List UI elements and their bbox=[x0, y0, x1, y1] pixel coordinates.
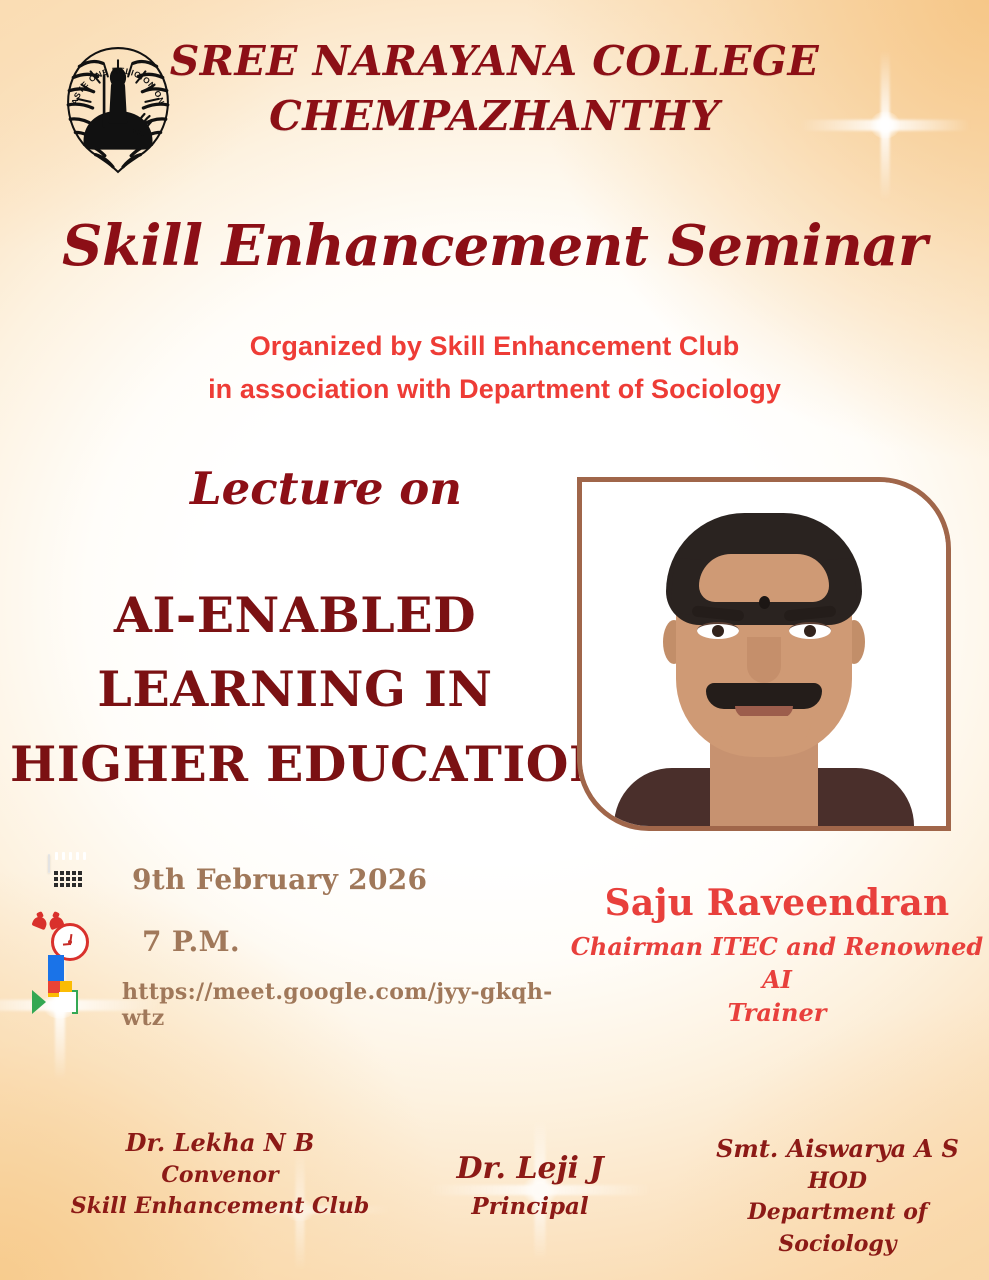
event-link-row[interactable]: https://meet.google.com/jyy-gkqh-wtz bbox=[48, 979, 588, 1031]
speaker-role: Chairman ITEC and Renowned AI Trainer bbox=[565, 930, 989, 1029]
speaker-name: Saju Raveendran bbox=[565, 885, 989, 921]
event-date-row: 9th February 2026 bbox=[48, 855, 588, 903]
lecture-topic-line1: AI-ENABLED bbox=[10, 578, 580, 652]
event-date-text: 9th February 2026 bbox=[132, 863, 427, 896]
college-name-line1: SREE NARAYANA COLLEGE bbox=[115, 34, 875, 89]
signatory-principal: Dr. Leji J Principal bbox=[390, 1148, 670, 1223]
organizer-line2: in association with Department of Sociol… bbox=[0, 368, 989, 411]
lecture-topic-line2: LEARNING IN bbox=[10, 652, 580, 726]
event-meet-link[interactable]: https://meet.google.com/jyy-gkqh-wtz bbox=[122, 979, 588, 1031]
event-details: 9th February 2026 7 P.M. bbox=[48, 855, 588, 1045]
college-name-line2: CHEMPAZHANTHY bbox=[115, 89, 875, 144]
signatory-convenor-role: Convenor bbox=[60, 1160, 380, 1191]
signatory-convenor: Dr. Lekha N B Convenor Skill Enhancement… bbox=[60, 1126, 380, 1223]
speaker-photo-frame bbox=[577, 477, 951, 831]
lecture-topic: AI-ENABLED LEARNING IN HIGHER EDUCATION bbox=[10, 578, 580, 801]
lecture-on-label: Lecture on bbox=[96, 466, 556, 511]
signatory-convenor-name: Dr. Lekha N B bbox=[60, 1126, 380, 1160]
college-name: SREE NARAYANA COLLEGE CHEMPAZHANTHY bbox=[115, 34, 875, 143]
signatory-convenor-unit: Skill Enhancement Club bbox=[60, 1191, 380, 1222]
organizer-block: Organized by Skill Enhancement Club in a… bbox=[0, 325, 989, 411]
calendar-icon bbox=[48, 855, 96, 903]
signatory-principal-name: Dr. Leji J bbox=[390, 1148, 670, 1191]
speaker-role-line1: Chairman ITEC and Renowned AI bbox=[571, 932, 983, 994]
poster-header: ONE CASTE ONE RELIGION ONE GOD SREE NARA… bbox=[0, 34, 989, 143]
speaker-role-line2: Trainer bbox=[728, 998, 827, 1027]
speaker-photo bbox=[582, 482, 946, 826]
event-time-row: 7 P.M. bbox=[48, 917, 588, 965]
organizer-line1: Organized by Skill Enhancement Club bbox=[0, 325, 989, 368]
seminar-title: Skill Enhancement Seminar bbox=[0, 218, 989, 274]
signatory-hod: Smt. Aiswarya A S HOD Department of Soci… bbox=[690, 1132, 985, 1260]
seminar-poster: ONE CASTE ONE RELIGION ONE GOD SREE NARA… bbox=[0, 0, 989, 1280]
signatory-row: Dr. Lekha N B Convenor Skill Enhancement… bbox=[0, 1110, 989, 1270]
signatory-hod-unit: Department of Sociology bbox=[690, 1197, 985, 1259]
signatory-hod-role: HOD bbox=[690, 1166, 985, 1197]
event-time-text: 7 P.M. bbox=[142, 925, 240, 958]
lecture-topic-line3: HIGHER EDUCATION bbox=[10, 727, 580, 801]
signatory-hod-name: Smt. Aiswarya A S bbox=[690, 1132, 985, 1166]
college-logo-icon: ONE CASTE ONE RELIGION ONE GOD bbox=[57, 44, 179, 176]
signatory-principal-role: Principal bbox=[390, 1191, 670, 1224]
google-meet-icon bbox=[48, 981, 96, 1029]
